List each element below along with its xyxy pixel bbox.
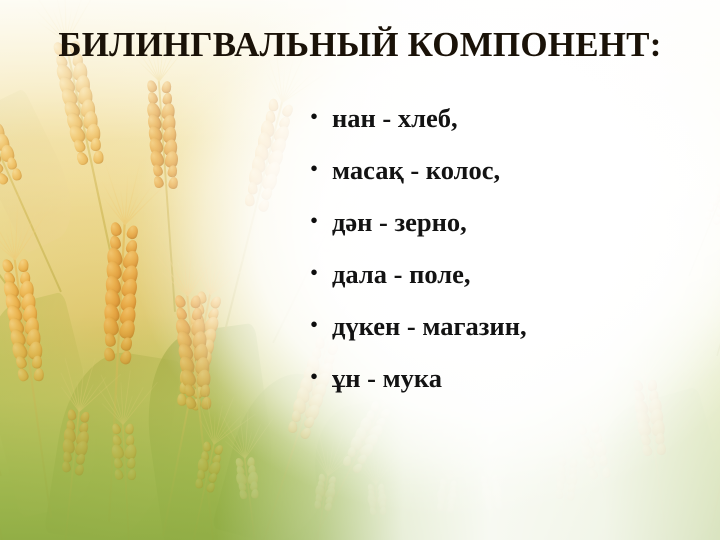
list-item-label: дүкен - магазин, — [332, 312, 527, 341]
list-item: •дән - зерно, — [310, 208, 527, 260]
bullet-dot-icon: • — [310, 209, 332, 232]
list-item-label: дән - зерно, — [332, 208, 467, 237]
bullet-dot-icon: • — [310, 365, 332, 388]
list-item: •дүкен - магазин, — [310, 312, 527, 364]
bilingual-word-list: •нан - хлеб,•масақ - колос,•дән - зерно,… — [310, 104, 527, 416]
list-item: •нан - хлеб, — [310, 104, 527, 156]
page-title: БИЛИНГВАЛЬНЫЙ КОМПОНЕНТ: — [0, 26, 720, 64]
bullet-dot-icon: • — [310, 313, 332, 336]
list-item-label: ұн - мука — [332, 364, 442, 393]
bullet-dot-icon: • — [310, 105, 332, 128]
bullet-dot-icon: • — [310, 157, 332, 180]
list-item-label: масақ - колос, — [332, 156, 500, 185]
list-item: •ұн - мука — [310, 364, 527, 416]
list-item: •дала - поле, — [310, 260, 527, 312]
slide-content: БИЛИНГВАЛЬНЫЙ КОМПОНЕНТ: •нан - хлеб,•ма… — [0, 0, 720, 540]
bullet-dot-icon: • — [310, 261, 332, 284]
list-item: •масақ - колос, — [310, 156, 527, 208]
slide: БИЛИНГВАЛЬНЫЙ КОМПОНЕНТ: •нан - хлеб,•ма… — [0, 0, 720, 540]
list-item-label: нан - хлеб, — [332, 104, 458, 133]
list-item-label: дала - поле, — [332, 260, 471, 289]
